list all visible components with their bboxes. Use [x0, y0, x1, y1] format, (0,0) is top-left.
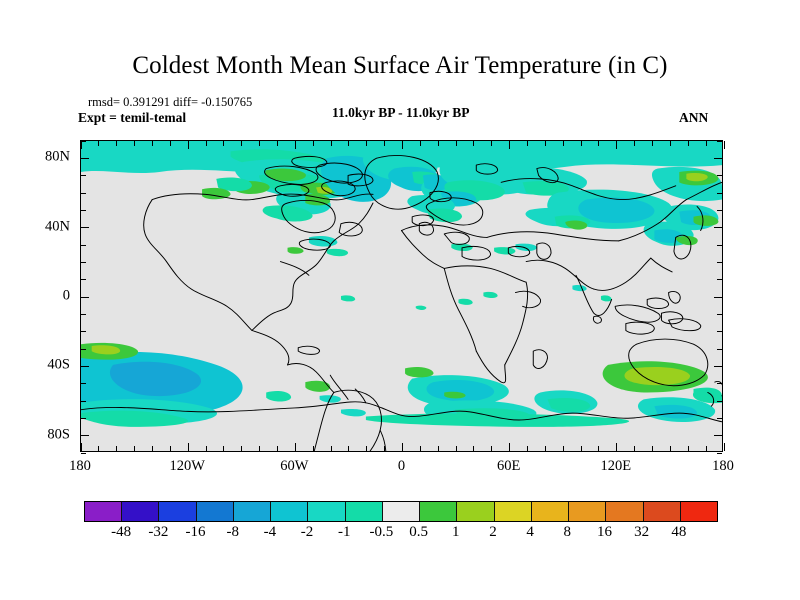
x-tick — [348, 446, 349, 451]
y-tick — [717, 418, 722, 419]
x-tick — [116, 446, 117, 451]
x-tick — [652, 446, 653, 451]
colorbar-label: -2 — [301, 524, 314, 541]
y-axis-label: 80S — [26, 426, 70, 443]
x-tick — [634, 446, 635, 451]
y-tick — [81, 453, 86, 454]
x-tick — [277, 141, 278, 146]
x-tick — [223, 446, 224, 451]
x-tick — [706, 446, 707, 451]
y-tick — [81, 279, 86, 280]
figure-canvas: Coldest Month Mean Surface Air Temperatu… — [0, 0, 800, 600]
x-tick — [348, 141, 349, 146]
x-tick — [81, 443, 82, 451]
x-tick — [527, 141, 528, 146]
y-tick — [81, 245, 86, 246]
x-tick — [456, 141, 457, 146]
colorbar-label: 48 — [671, 524, 686, 541]
x-tick — [295, 141, 296, 149]
y-tick — [81, 141, 86, 142]
x-tick — [598, 446, 599, 451]
map-plot-area — [80, 140, 723, 452]
y-tick — [717, 193, 722, 194]
colorbar-cell[interactable] — [270, 502, 307, 521]
colorbar-cell[interactable] — [680, 502, 717, 521]
x-tick — [170, 446, 171, 451]
colorbar-cell[interactable] — [158, 502, 195, 521]
y-tick — [81, 331, 86, 332]
x-tick — [331, 141, 332, 146]
colorbar-label: 2 — [489, 524, 497, 541]
y-tick — [717, 383, 722, 384]
x-tick — [545, 446, 546, 451]
y-tick — [81, 366, 89, 367]
y-tick — [717, 401, 722, 402]
x-tick — [402, 443, 403, 451]
colorbar-label: 8 — [564, 524, 572, 541]
x-tick — [438, 446, 439, 451]
x-tick — [384, 141, 385, 146]
y-axis-label: 0 — [26, 288, 70, 305]
x-tick — [366, 446, 367, 451]
y-tick — [81, 297, 89, 298]
x-tick — [98, 446, 99, 451]
x-tick — [581, 446, 582, 451]
x-tick — [116, 141, 117, 146]
x-tick — [527, 446, 528, 451]
x-tick — [188, 141, 189, 149]
x-axis-label: 180 — [712, 458, 734, 475]
y-tick — [717, 175, 722, 176]
x-tick — [259, 141, 260, 146]
x-tick — [134, 446, 135, 451]
x-tick — [581, 141, 582, 146]
x-tick — [563, 446, 564, 451]
x-axis-label: 120W — [169, 458, 204, 475]
x-tick — [241, 446, 242, 451]
x-tick — [223, 141, 224, 146]
x-axis-label: 180 — [69, 458, 91, 475]
y-tick — [717, 210, 722, 211]
colorbar-cell[interactable] — [196, 502, 233, 521]
y-tick — [717, 349, 722, 350]
y-tick — [714, 366, 722, 367]
experiment-label: Expt = temil-temal — [78, 110, 186, 126]
x-tick — [598, 141, 599, 146]
y-tick — [717, 245, 722, 246]
x-tick — [331, 446, 332, 451]
colorbar[interactable] — [84, 501, 718, 522]
x-tick — [420, 141, 421, 146]
y-axis-label: 40S — [26, 357, 70, 374]
x-tick — [724, 443, 725, 451]
colorbar-label: 0.5 — [409, 524, 428, 541]
x-tick — [170, 141, 171, 146]
colorbar-label: -4 — [264, 524, 277, 541]
x-tick — [313, 446, 314, 451]
x-tick — [134, 141, 135, 146]
x-axis-label: 60W — [280, 458, 308, 475]
x-axis-label: 60E — [497, 458, 520, 475]
x-tick — [473, 446, 474, 451]
colorbar-cell[interactable] — [233, 502, 270, 521]
x-tick — [670, 446, 671, 451]
colorbar-cell[interactable] — [531, 502, 568, 521]
y-tick — [714, 297, 722, 298]
colorbar-label: -48 — [111, 524, 131, 541]
y-tick — [81, 227, 89, 228]
period-label: 11.0kyr BP - 11.0kyr BP — [332, 105, 470, 121]
x-tick — [81, 141, 82, 149]
x-tick — [688, 446, 689, 451]
colorbar-label: -32 — [148, 524, 168, 541]
x-tick — [724, 141, 725, 149]
x-tick — [545, 141, 546, 146]
x-tick — [259, 446, 260, 451]
colorbar-cell[interactable] — [345, 502, 382, 521]
y-tick — [81, 401, 86, 402]
x-tick — [313, 141, 314, 146]
y-tick — [81, 193, 86, 194]
y-tick — [81, 383, 86, 384]
page-title: Coldest Month Mean Surface Air Temperatu… — [0, 52, 800, 80]
y-tick — [81, 349, 86, 350]
y-tick — [81, 158, 89, 159]
season-label: ANN — [679, 110, 708, 126]
y-tick — [717, 331, 722, 332]
colorbar-label: 32 — [634, 524, 649, 541]
x-tick — [152, 141, 153, 146]
x-tick — [295, 443, 296, 451]
world-anomaly-map — [81, 141, 722, 451]
x-tick — [384, 446, 385, 451]
x-tick — [206, 446, 207, 451]
colorbar-cell[interactable] — [382, 502, 419, 521]
x-tick — [206, 141, 207, 146]
x-tick — [277, 446, 278, 451]
x-tick — [438, 141, 439, 146]
colorbar-label: -8 — [226, 524, 239, 541]
y-axis-label: 80N — [26, 149, 70, 166]
x-tick — [563, 141, 564, 146]
y-tick — [714, 435, 722, 436]
x-tick — [420, 446, 421, 451]
x-tick — [616, 443, 617, 451]
colorbar-cell[interactable] — [456, 502, 493, 521]
colorbar-label: -16 — [186, 524, 206, 541]
x-axis-label: 120E — [601, 458, 632, 475]
colorbar-label: 4 — [526, 524, 534, 541]
y-tick — [81, 418, 86, 419]
colorbar-cell[interactable] — [419, 502, 456, 521]
colorbar-cell[interactable] — [494, 502, 531, 521]
x-tick — [152, 446, 153, 451]
y-tick — [717, 279, 722, 280]
colorbar-label: 16 — [597, 524, 612, 541]
x-tick — [652, 141, 653, 146]
y-tick — [717, 141, 722, 142]
colorbar-label: -0.5 — [370, 524, 394, 541]
x-tick — [98, 141, 99, 146]
y-tick — [81, 175, 86, 176]
x-tick — [456, 446, 457, 451]
colorbar-cell[interactable] — [121, 502, 158, 521]
x-tick — [509, 443, 510, 451]
y-tick — [81, 314, 86, 315]
x-tick — [188, 443, 189, 451]
y-tick — [717, 314, 722, 315]
colorbar-cell[interactable] — [605, 502, 642, 521]
x-tick — [634, 141, 635, 146]
colorbar-cell[interactable] — [568, 502, 605, 521]
y-tick — [81, 210, 86, 211]
x-tick — [670, 141, 671, 146]
x-tick — [706, 141, 707, 146]
y-tick — [81, 435, 89, 436]
x-tick — [491, 141, 492, 146]
colorbar-cell[interactable] — [643, 502, 680, 521]
y-tick — [717, 453, 722, 454]
x-tick — [366, 141, 367, 146]
x-tick — [491, 446, 492, 451]
x-tick — [688, 141, 689, 146]
x-tick — [402, 141, 403, 149]
y-tick — [714, 227, 722, 228]
y-axis-label: 40N — [26, 218, 70, 235]
colorbar-label: -1 — [338, 524, 351, 541]
rmsd-statistics-label: rmsd= 0.391291 diff= -0.150765 — [88, 95, 252, 110]
y-tick — [717, 262, 722, 263]
y-tick — [81, 262, 86, 263]
y-tick — [714, 158, 722, 159]
x-axis-label: 0 — [398, 458, 405, 475]
colorbar-cell[interactable] — [307, 502, 344, 521]
x-tick — [241, 141, 242, 146]
x-tick — [473, 141, 474, 146]
colorbar-cell[interactable] — [85, 502, 121, 521]
x-tick — [616, 141, 617, 149]
colorbar-label: 1 — [452, 524, 460, 541]
x-tick — [509, 141, 510, 149]
